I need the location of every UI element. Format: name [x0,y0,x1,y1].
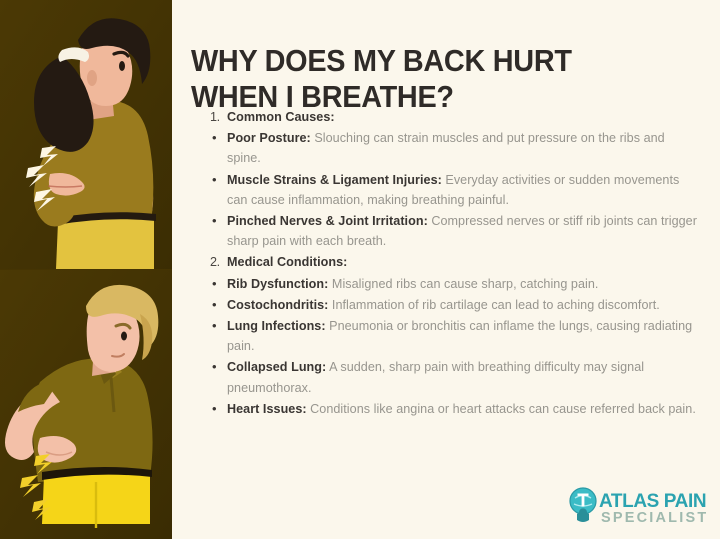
list-item: •Poor Posture: Slouching can strain musc… [210,128,700,168]
list-item: 1.Common Causes: [210,107,700,127]
list-item-label: Costochondritis: [227,298,328,312]
list-item: •Heart Issues: Conditions like angina or… [210,399,700,419]
list-item-label: Lung Infections: [227,319,326,333]
list-item: •Muscle Strains & Ligament Injuries: Eve… [210,170,700,210]
causes-list: 1.Common Causes: •Poor Posture: Slouchin… [210,107,700,420]
list-item-label: Collapsed Lung: [227,360,326,374]
illustration-woman-holding-lower-back [0,0,172,269]
list-item-text: Misaligned ribs can cause sharp, catchin… [328,277,598,291]
list-marker: • [210,399,227,419]
list-item-label: Common Causes: [227,110,335,124]
list-marker: • [210,274,227,294]
logo-line2: SPECIALISTS [601,510,706,526]
atlas-pain-specialists-logo: ATLAS PAIN SPECIALISTS [566,486,706,528]
illustration-column [0,0,172,539]
list-item: •Costochondritis: Inflammation of rib ca… [210,295,700,315]
list-marker: • [210,128,227,148]
logo-line1: ATLAS PAIN [599,491,706,512]
list-item: •Collapsed Lung: A sudden, sharp pain wi… [210,357,700,397]
list-item: •Pinched Nerves & Joint Irritation: Comp… [210,211,700,251]
content-panel: WHY DOES MY BACK HURT WHEN I BREATHE? 1.… [172,0,720,539]
list-item-label: Heart Issues: [227,402,307,416]
list-marker: • [210,316,227,336]
page-title: WHY DOES MY BACK HURT WHEN I BREATHE? [191,43,665,115]
list-marker: • [210,170,227,190]
list-item: •Rib Dysfunction: Misaligned ribs can ca… [210,274,700,294]
list-item: 2.Medical Conditions: [210,252,700,272]
list-item-label: Muscle Strains & Ligament Injuries: [227,173,442,187]
list-item-label: Pinched Nerves & Joint Irritation: [227,214,428,228]
list-item-label: Medical Conditions: [227,255,347,269]
list-marker: • [210,295,227,315]
list-item: •Lung Infections: Pneumonia or bronchiti… [210,316,700,356]
atlas-figure-icon [570,488,596,522]
list-item-text: Inflammation of rib cartilage can lead t… [328,298,659,312]
list-marker: 2. [210,252,225,272]
list-marker: • [210,357,227,377]
illustration-man-bending-with-back-pain [0,270,172,539]
list-marker: • [210,211,227,231]
list-marker: 1. [210,107,225,127]
list-item-label: Poor Posture: [227,131,311,145]
list-item-text: Conditions like angina or heart attacks … [307,402,696,416]
infographic-canvas: WHY DOES MY BACK HURT WHEN I BREATHE? 1.… [0,0,720,539]
list-item-label: Rib Dysfunction: [227,277,328,291]
